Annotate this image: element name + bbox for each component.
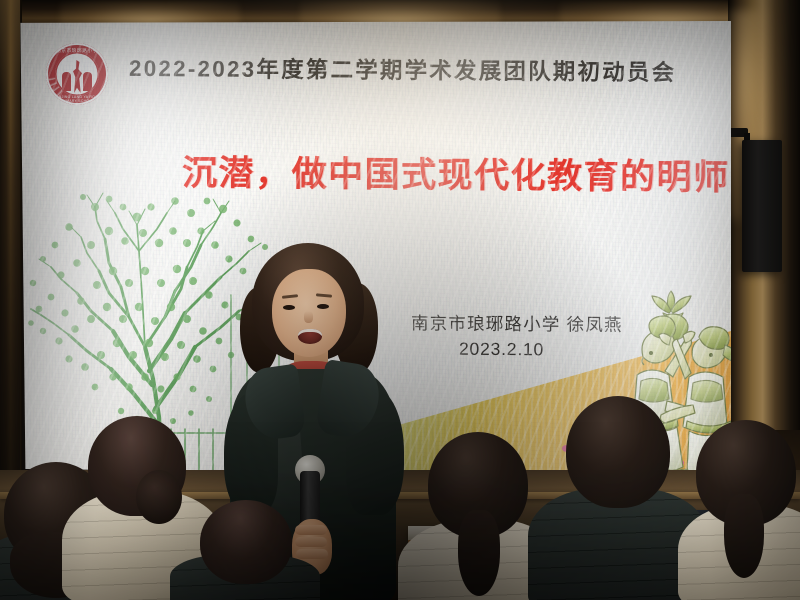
wall-loudspeaker	[742, 140, 782, 272]
presenter-face	[272, 269, 346, 357]
ceiling-light-1	[60, 0, 240, 24]
ceiling-light-2	[300, 0, 500, 24]
presenter-brow-right	[316, 293, 332, 297]
presentation-photo: 南京市琅琊路小学 1934 NANJING LANG YA ROAD PRIMA…	[0, 0, 800, 600]
presenter-brow-left	[282, 294, 298, 299]
presenter-eye-right	[317, 304, 329, 309]
presenter-mouth	[298, 329, 322, 344]
audience-member	[678, 420, 800, 600]
audience-member	[170, 500, 320, 600]
presenter-eye-left	[283, 305, 295, 310]
presenter-nose	[304, 311, 313, 323]
